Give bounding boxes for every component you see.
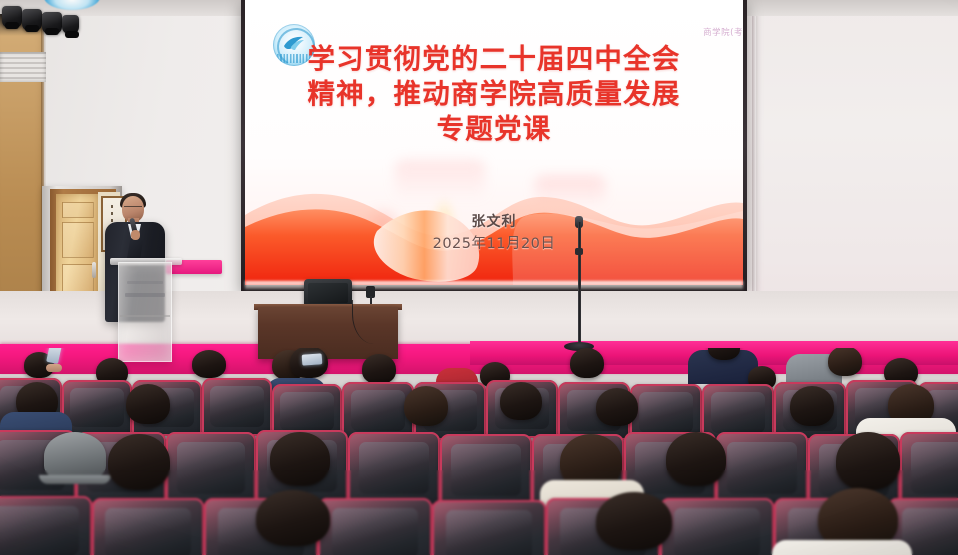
attendee-head (500, 382, 542, 420)
door-handle[interactable] (92, 262, 96, 278)
floor-microphone-stand (578, 222, 581, 348)
slide-title-line-1: 学习贯彻党的二十届四中全会 (245, 42, 743, 77)
attendee-head (404, 386, 448, 426)
auditorium-seat (62, 380, 132, 436)
baseball-cap-attendee (44, 432, 106, 480)
mic-stand-joint (575, 248, 583, 255)
attendee-head (596, 388, 638, 426)
slide-title-line-2: 精神，推动商学院高质量发展 (245, 77, 743, 112)
attendee-hands (46, 364, 62, 372)
podium-engraving (127, 281, 163, 284)
attendee-head (570, 348, 604, 378)
auditorium-seat (0, 496, 92, 555)
led-presentation-screen: 商学院(考 学习贯彻党的二十届四中全会 精神，推动商学院高质量发展 专题党课 张… (245, 0, 743, 285)
slide-title: 学习贯彻党的二十届四中全会 精神，推动商学院高质量发展 专题党课 (245, 42, 743, 148)
lecture-hall-photo: 商学院(考 学习贯彻党的二十届四中全会 精神，推动商学院高质量发展 专题党课 张… (0, 0, 958, 555)
speaker-glasses (124, 206, 142, 212)
slide-presenter-name: 张文利 (245, 211, 743, 231)
slide-title-line-3: 专题党课 (245, 112, 743, 147)
phone-raised-recording (46, 348, 62, 364)
spotlight-icon (42, 12, 62, 34)
auditorium-seat (900, 432, 958, 506)
speaker-hand (131, 230, 140, 240)
auditorium-seat (318, 498, 432, 555)
spotlight-icon (22, 9, 42, 31)
podium-engraving (125, 293, 165, 297)
podium-band (120, 315, 170, 317)
auditorium-seat (440, 434, 532, 508)
attendee-head (192, 350, 226, 378)
slide-corner-label: 商学院(考 (703, 26, 743, 38)
attendee-head (270, 432, 330, 486)
attendee-head (108, 434, 170, 490)
attendee-head (362, 354, 396, 384)
auditorium-seat (432, 500, 546, 555)
phone-raised-recording (302, 353, 323, 365)
attendee-head (790, 386, 834, 426)
auditorium-seat (660, 498, 774, 555)
auditorium-seat (348, 432, 440, 506)
attendee-head (836, 432, 900, 490)
seated-audience (0, 348, 958, 555)
attendee-head (126, 384, 170, 424)
attendee-head (596, 492, 672, 550)
acrylic-podium (118, 262, 172, 362)
spotlight-icon (2, 6, 22, 28)
attendee-head (828, 348, 862, 376)
auditorium-seat (202, 378, 272, 436)
auditorium-seat (166, 432, 256, 506)
attendee-torso (772, 540, 912, 555)
auditorium-seat (716, 432, 808, 506)
spotlight-icon (62, 15, 79, 34)
slide-date: 2025年11月20日 (245, 232, 743, 253)
wall-vent-grille (0, 52, 46, 82)
attendee-head (256, 490, 330, 546)
attendee-head (666, 432, 726, 486)
auditorium-seat (92, 498, 204, 555)
